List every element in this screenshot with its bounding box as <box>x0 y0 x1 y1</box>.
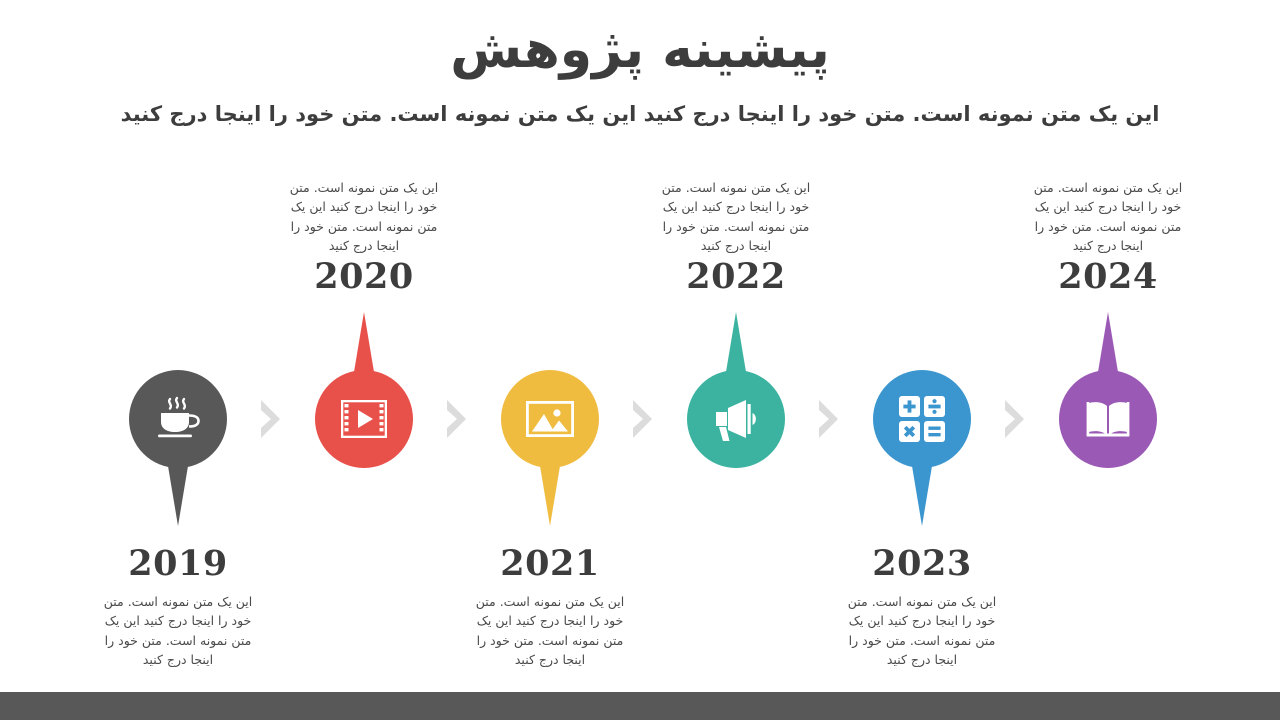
film-play-icon <box>341 400 387 438</box>
item-text-2023: این یک متن نمونه است. متن خود را اینجا د… <box>829 592 1015 670</box>
item-text-2021: این یک متن نمونه است. متن خود را اینجا د… <box>457 592 643 670</box>
pin-spike-2023 <box>911 460 933 526</box>
pin-disc-2024[interactable] <box>1059 370 1157 468</box>
pin-disc-2019[interactable] <box>129 370 227 468</box>
photo-image-icon <box>526 401 574 437</box>
year-label-2019: 2019 <box>85 543 271 584</box>
item-text-2022: این یک متن نمونه است. متن خود را اینجا د… <box>643 178 829 256</box>
timeline-item-2021[interactable]: 2021 این یک متن نمونه است. متن خود را ای… <box>457 0 643 690</box>
coffee-cup-icon <box>153 396 203 442</box>
calculator-icon <box>899 396 945 442</box>
pin-marker-2023[interactable] <box>873 370 971 468</box>
timeline-item-2020[interactable]: این یک متن نمونه است. متن خود را اینجا د… <box>271 0 457 690</box>
year-label-2023: 2023 <box>829 543 1015 584</box>
pin-disc-2023[interactable] <box>873 370 971 468</box>
timeline-item-2019[interactable]: 2019 این یک متن نمونه است. متن خود را ای… <box>85 0 271 690</box>
pin-spike-2024 <box>1097 312 1119 378</box>
timeline-item-2022[interactable]: این یک متن نمونه است. متن خود را اینجا د… <box>643 0 829 690</box>
pin-marker-2022[interactable] <box>687 370 785 468</box>
pin-marker-2019[interactable] <box>129 370 227 468</box>
pin-spike-2020 <box>353 312 375 378</box>
pin-disc-2022[interactable] <box>687 370 785 468</box>
pin-marker-2021[interactable] <box>501 370 599 468</box>
pin-marker-2020[interactable] <box>315 370 413 468</box>
pin-spike-2022 <box>725 312 747 378</box>
year-label-2020: 2020 <box>271 256 457 297</box>
timeline-diagram: 2019 این یک متن نمونه است. متن خود را ای… <box>0 0 1280 690</box>
timeline-item-2024[interactable]: این یک متن نمونه است. متن خود را اینجا د… <box>1015 0 1201 690</box>
item-text-2024: این یک متن نمونه است. متن خود را اینجا د… <box>1015 178 1201 256</box>
item-text-2020: این یک متن نمونه است. متن خود را اینجا د… <box>271 178 457 256</box>
footer-bar <box>0 692 1280 720</box>
timeline-item-2023[interactable]: 2023 این یک متن نمونه است. متن خود را ای… <box>829 0 1015 690</box>
year-label-2024: 2024 <box>1015 256 1201 297</box>
year-label-2021: 2021 <box>457 543 643 584</box>
megaphone-icon <box>711 396 761 442</box>
year-label-2022: 2022 <box>643 256 829 297</box>
pin-spike-2021 <box>539 460 561 526</box>
open-book-icon <box>1085 399 1131 439</box>
pin-disc-2021[interactable] <box>501 370 599 468</box>
pin-disc-2020[interactable] <box>315 370 413 468</box>
pin-marker-2024[interactable] <box>1059 370 1157 468</box>
item-text-2019: این یک متن نمونه است. متن خود را اینجا د… <box>85 592 271 670</box>
pin-spike-2019 <box>167 460 189 526</box>
